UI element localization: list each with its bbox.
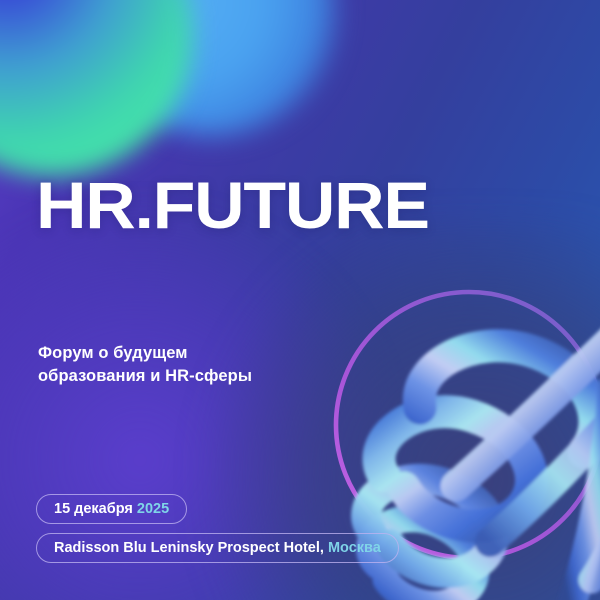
event-date-year: 2025: [137, 501, 169, 517]
poster-content: HR.FUTURE Форум о будущем образования и …: [0, 0, 600, 600]
event-venue-city: Москва: [328, 540, 381, 556]
event-venue-badge: Radisson Blu Leninsky Prospect Hotel, Мо…: [36, 533, 399, 563]
event-date-day-month: 15 декабря: [54, 501, 133, 517]
event-venue-place: Radisson Blu Leninsky Prospect Hotel,: [54, 540, 324, 556]
event-poster: HR.FUTURE Форум о будущем образования и …: [0, 0, 600, 600]
poster-subtitle: Форум о будущем образования и HR-сферы: [38, 342, 252, 388]
page-title: HR.FUTURE: [36, 172, 429, 238]
event-date-badge: 15 декабря 2025: [36, 494, 187, 524]
